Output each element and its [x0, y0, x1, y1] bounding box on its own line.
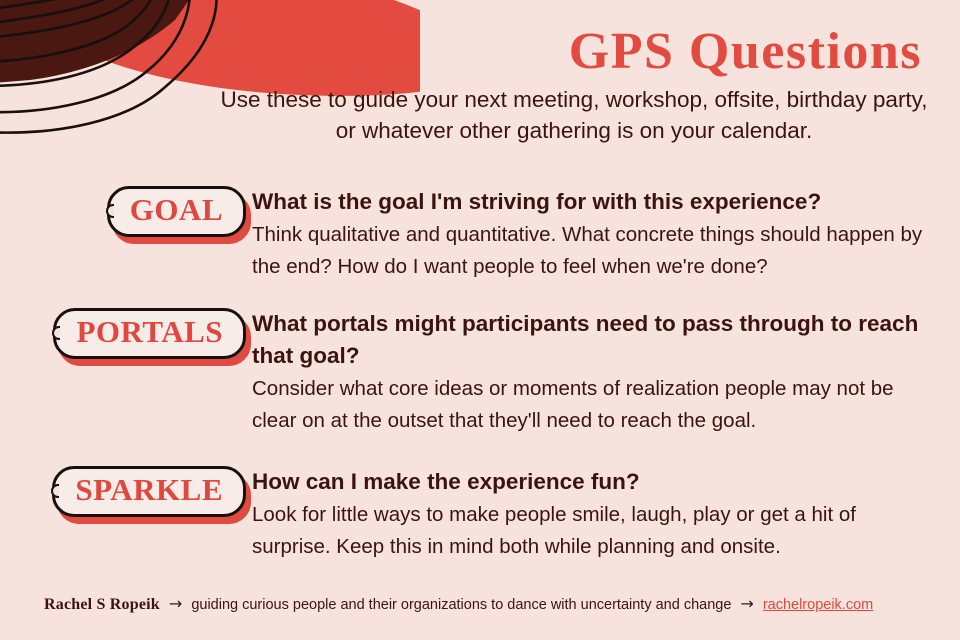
badge-label-goal: GOAL — [130, 194, 223, 227]
footer-tagline: guiding curious people and their organiz… — [191, 597, 731, 613]
maroon-wedge-shape — [0, 0, 210, 84]
badge-face: PORTALS — [53, 308, 246, 359]
infographic-canvas: GPS Questions Use these to guide your ne… — [0, 0, 960, 640]
contour-line-4 — [0, 0, 157, 62]
footer: Rachel S Ropeik → guiding curious people… — [44, 594, 873, 614]
section-goal: GOAL What is the goal I'm striving for w… — [0, 186, 960, 282]
page-subtitle: Use these to guide your next meeting, wo… — [200, 84, 940, 146]
section-sparkle: SPARKLE How can I make the experience fu… — [0, 466, 960, 562]
contour-line-3 — [0, 0, 148, 38]
question-body-sparkle: Look for little ways to make people smil… — [252, 499, 932, 563]
header-block: GPS Questions Use these to guide your ne… — [200, 26, 940, 146]
page-title: GPS Questions — [200, 26, 940, 78]
question-body-goal: Think qualitative and quantitative. What… — [252, 219, 932, 283]
contour-line-1 — [0, 0, 120, 10]
badge-column-portals: PORTALS — [0, 308, 252, 359]
question-body-portals: Consider what core ideas or moments of r… — [252, 373, 932, 437]
contour-line-5 — [0, 0, 171, 86]
question-heading-sparkle: How can I make the experience fun? — [252, 466, 932, 498]
footer-author-name: Rachel S Ropeik — [44, 596, 160, 614]
badge-goal: GOAL — [107, 186, 246, 237]
contour-line-2 — [0, 0, 140, 24]
badge-face: SPARKLE — [52, 466, 246, 517]
arrow-right-icon: → — [740, 594, 753, 613]
text-column-sparkle: How can I make the experience fun? Look … — [252, 466, 960, 562]
badge-notch-icon — [52, 326, 60, 340]
contour-line-7 — [0, 0, 217, 133]
badge-notch-icon — [106, 204, 114, 218]
question-heading-goal: What is the goal I'm striving for with t… — [252, 186, 932, 218]
badge-face: GOAL — [107, 186, 246, 237]
badge-label-portals: PORTALS — [76, 316, 223, 349]
badge-label-sparkle: SPARKLE — [75, 474, 223, 507]
arrow-right-icon: → — [169, 594, 182, 613]
section-portals: PORTALS What portals might participants … — [0, 308, 960, 436]
question-heading-portals: What portals might participants need to … — [252, 308, 932, 372]
contour-line-6 — [0, 0, 190, 112]
text-column-portals: What portals might participants need to … — [252, 308, 960, 436]
footer-website-link[interactable]: rachelropeik.com — [763, 597, 873, 613]
badge-column-goal: GOAL — [0, 186, 252, 237]
badge-portals: PORTALS — [53, 308, 246, 359]
text-column-goal: What is the goal I'm striving for with t… — [252, 186, 960, 282]
badge-sparkle: SPARKLE — [52, 466, 246, 517]
badge-notch-icon — [51, 484, 59, 498]
badge-column-sparkle: SPARKLE — [0, 466, 252, 517]
